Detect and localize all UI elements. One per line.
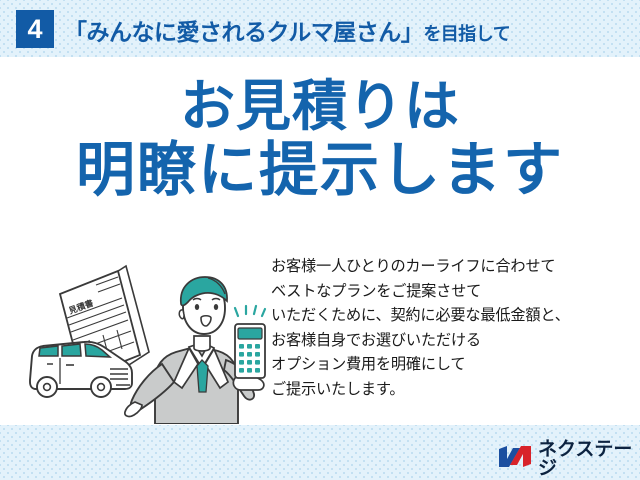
step-number-badge: 4 bbox=[16, 10, 54, 48]
body-line: ご提示いたします。 bbox=[271, 378, 631, 403]
body-paragraph: お客様一人ひとりのカーライフに合わせて ベストなプランをご提案させて いただくた… bbox=[271, 255, 631, 402]
headline-line-2: 明瞭に提示します bbox=[0, 140, 640, 200]
calculator-icon bbox=[235, 324, 265, 378]
promo-slide: 4 「みんなに愛されるクルマ屋さん」 を目指して お見積りは 明瞭に提示します … bbox=[0, 0, 640, 480]
brand-logo: ネクステージ bbox=[498, 440, 640, 478]
body-line: ベストなプランをご提案させて bbox=[271, 280, 631, 305]
brand-name: ネクステージ bbox=[538, 440, 640, 478]
body-line: オプション費用を明確にして bbox=[271, 353, 631, 378]
nextage-n-mark-icon bbox=[498, 445, 532, 473]
body-line: お客様自身でお選びいただける bbox=[271, 329, 631, 354]
body-line: お客様一人ひとりのカーライフに合わせて bbox=[271, 255, 631, 280]
header-title: 「みんなに愛されるクルマ屋さん」 を目指して bbox=[64, 13, 510, 45]
sparkle-icon bbox=[235, 306, 265, 316]
illustration-salesman-quotation-van: 見積書 bbox=[22, 252, 272, 424]
headline-line-1: お見積りは bbox=[0, 78, 640, 134]
header-title-suffix: を目指して bbox=[423, 20, 510, 46]
body-line: いただくために、契約に必要な最低金額と、 bbox=[271, 304, 631, 329]
header-title-quoted: 「みんなに愛されるクルマ屋さん」 bbox=[64, 13, 423, 47]
page-title: お見積りは 明瞭に提示します bbox=[0, 78, 640, 200]
